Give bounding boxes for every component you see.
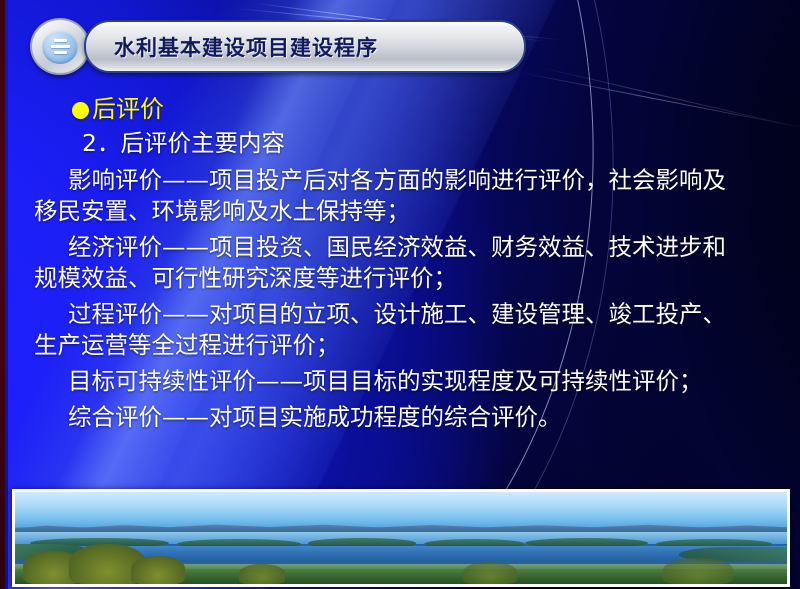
bullet-dot-icon — [72, 102, 89, 119]
paragraph-line: 目标可持续性评价——项目目标的实现程度及可持续性评价； — [0, 366, 800, 397]
slide-body: 后评价 2．后评价主要内容 影响评价——项目投产后对各方面的影响进行评价，社会影… — [0, 92, 800, 433]
paragraph-line: 过程评价——对项目的立项、设计施工、建设管理、竣工投产、 — [0, 299, 800, 330]
section-heading: 后评价 — [0, 92, 800, 126]
photo-foliage — [131, 556, 185, 584]
paragraph-line: 规模效益、可行性研究深度等进行评价； — [0, 263, 800, 294]
presentation-slide: 水利基本建设项目建设程序 后评价 2．后评价主要内容 影响评价——项目投产后对各… — [0, 0, 800, 589]
photo-foliage — [239, 564, 285, 584]
paragraph-5: 综合评价——对项目实施成功程度的综合评价。 — [0, 402, 800, 433]
section-heading-label: 后评价 — [92, 95, 164, 123]
photo-sky — [15, 492, 787, 527]
menu-lines-icon-glyph — [42, 30, 78, 64]
paragraph-4: 目标可持续性评价——项目目标的实现程度及可持续性评价； — [0, 366, 800, 397]
menu-lines-icon — [30, 18, 90, 75]
photo-foliage — [663, 558, 732, 584]
paragraph-1: 影响评价——项目投产后对各方面的影响进行评价，社会影响及 移民安置、环境影响及水… — [0, 165, 800, 227]
photo-foliage — [463, 562, 517, 584]
slide-title-pill: 水利基本建设项目建设程序 — [84, 20, 526, 73]
section-subheading: 2．后评价主要内容 — [0, 126, 800, 160]
paragraph-3: 过程评价——对项目的立项、设计施工、建设管理、竣工投产、 生产运营等全过程进行评… — [0, 299, 800, 361]
paragraph-line: 综合评价——对项目实施成功程度的综合评价。 — [0, 402, 800, 433]
paragraph-2: 经济评价——项目投资、国民经济效益、财务效益、技术进步和 规模效益、可行性研究深… — [0, 232, 800, 294]
paragraph-line: 移民安置、环境影响及水土保持等； — [0, 196, 800, 227]
paragraph-line: 生产运营等全过程进行评价； — [0, 330, 800, 361]
slide-title-bar: 水利基本建设项目建设程序 — [30, 18, 522, 71]
landscape-photo — [15, 492, 787, 584]
page-title: 水利基本建设项目建设程序 — [114, 32, 378, 62]
landscape-photo-frame — [12, 489, 790, 587]
paragraph-line: 经济评价——项目投资、国民经济效益、财务效益、技术进步和 — [0, 232, 800, 263]
paragraph-line: 影响评价——项目投产后对各方面的影响进行评价，社会影响及 — [0, 165, 800, 196]
